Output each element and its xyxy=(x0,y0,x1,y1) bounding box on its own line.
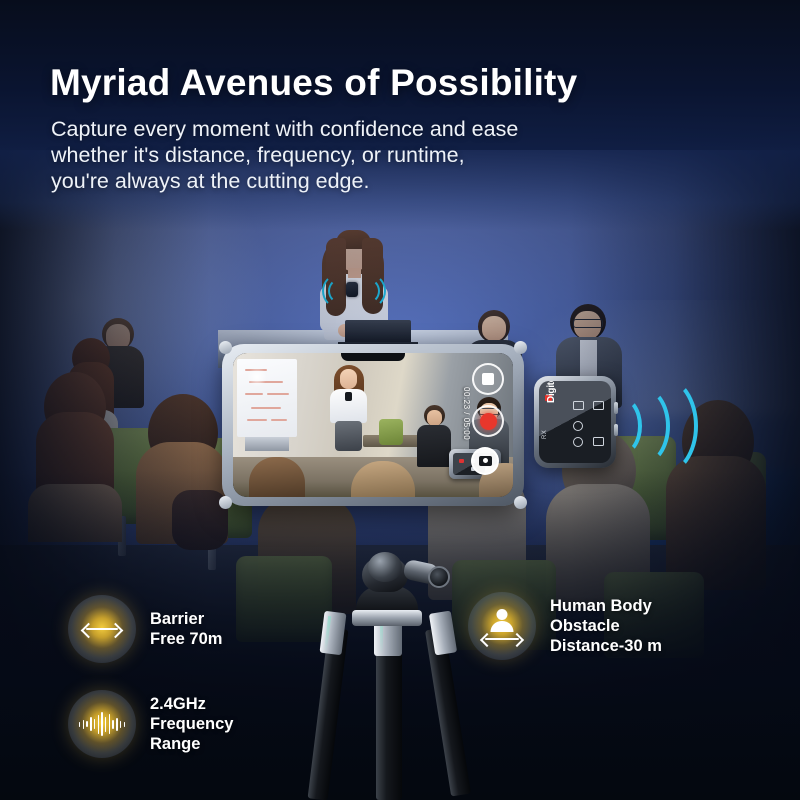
badge-line-2: Free 70m xyxy=(150,629,222,649)
signal-wave-icon xyxy=(628,376,698,476)
badge-label: 2.4GHz Frequency Range xyxy=(150,694,233,754)
badge-circle xyxy=(468,592,536,660)
volume-icon xyxy=(593,401,604,410)
audio-waveform-icon xyxy=(79,710,125,738)
switch-camera-button[interactable] xyxy=(471,447,499,475)
badge-label: Barrier Free 70m xyxy=(150,609,222,649)
vignette-top xyxy=(0,0,800,230)
stop-recording-button[interactable] xyxy=(472,363,504,395)
feature-badge-human-body: Human Body Obstacle Distance-30 m xyxy=(468,592,662,660)
channel-label: RX xyxy=(542,430,548,439)
feature-badge-barrier-free: Barrier Free 70m xyxy=(68,595,222,663)
badge-circle xyxy=(68,595,136,663)
record-button[interactable] xyxy=(472,405,504,437)
subheadline-line-1: Capture every moment with confidence and… xyxy=(51,116,691,142)
tripod-knob-end xyxy=(428,566,450,588)
smartphone: 00:23 / 05:00 xyxy=(222,344,524,506)
subheadline-line-3: you're always at the cutting edge. xyxy=(51,168,691,194)
viewfinder-audience xyxy=(417,405,451,467)
badge-line-3: Range xyxy=(150,734,233,754)
product-marketing-banner: 00:23 / 05:00 Digitek RX xyxy=(0,0,800,800)
badge-circle xyxy=(68,690,136,758)
phone-screen[interactable]: 00:23 / 05:00 xyxy=(233,353,513,497)
phone-notch xyxy=(341,353,405,361)
stop-square-icon xyxy=(482,373,494,385)
subheadline: Capture every moment with confidence and… xyxy=(51,116,691,194)
double-arrow-icon xyxy=(79,622,125,636)
tripod-ball-joint xyxy=(368,552,402,582)
human-body-distance-icon xyxy=(479,609,525,643)
brand-logo: Digitek xyxy=(546,381,557,403)
viewfinder-presenter xyxy=(326,365,370,445)
mic-icon xyxy=(573,421,583,431)
badge-line-3: Distance-30 m xyxy=(550,636,662,656)
record-circle-icon xyxy=(480,413,497,430)
viewfinder-whiteboard xyxy=(237,359,297,437)
badge-line-1: 2.4GHz xyxy=(150,694,233,714)
badge-line-1: Human Body xyxy=(550,596,662,616)
badge-line-1: Barrier xyxy=(150,609,222,629)
recording-timer: 00:23 / 05:00 xyxy=(462,387,471,440)
camera-switch-icon xyxy=(479,456,492,466)
subheadline-line-2: whether it's distance, frequency, or run… xyxy=(51,142,691,168)
badge-label: Human Body Obstacle Distance-30 m xyxy=(550,596,662,656)
badge-line-2: Obstacle xyxy=(550,616,662,636)
gain-icon xyxy=(573,437,583,447)
tripod-ring xyxy=(352,610,422,626)
badge-line-2: Frequency xyxy=(150,714,233,734)
feature-badge-frequency: 2.4GHz Frequency Range xyxy=(68,690,233,758)
camera-viewfinder xyxy=(233,353,513,497)
battery-icon xyxy=(573,401,584,410)
page-title: Myriad Avenues of Possibility xyxy=(50,62,750,104)
